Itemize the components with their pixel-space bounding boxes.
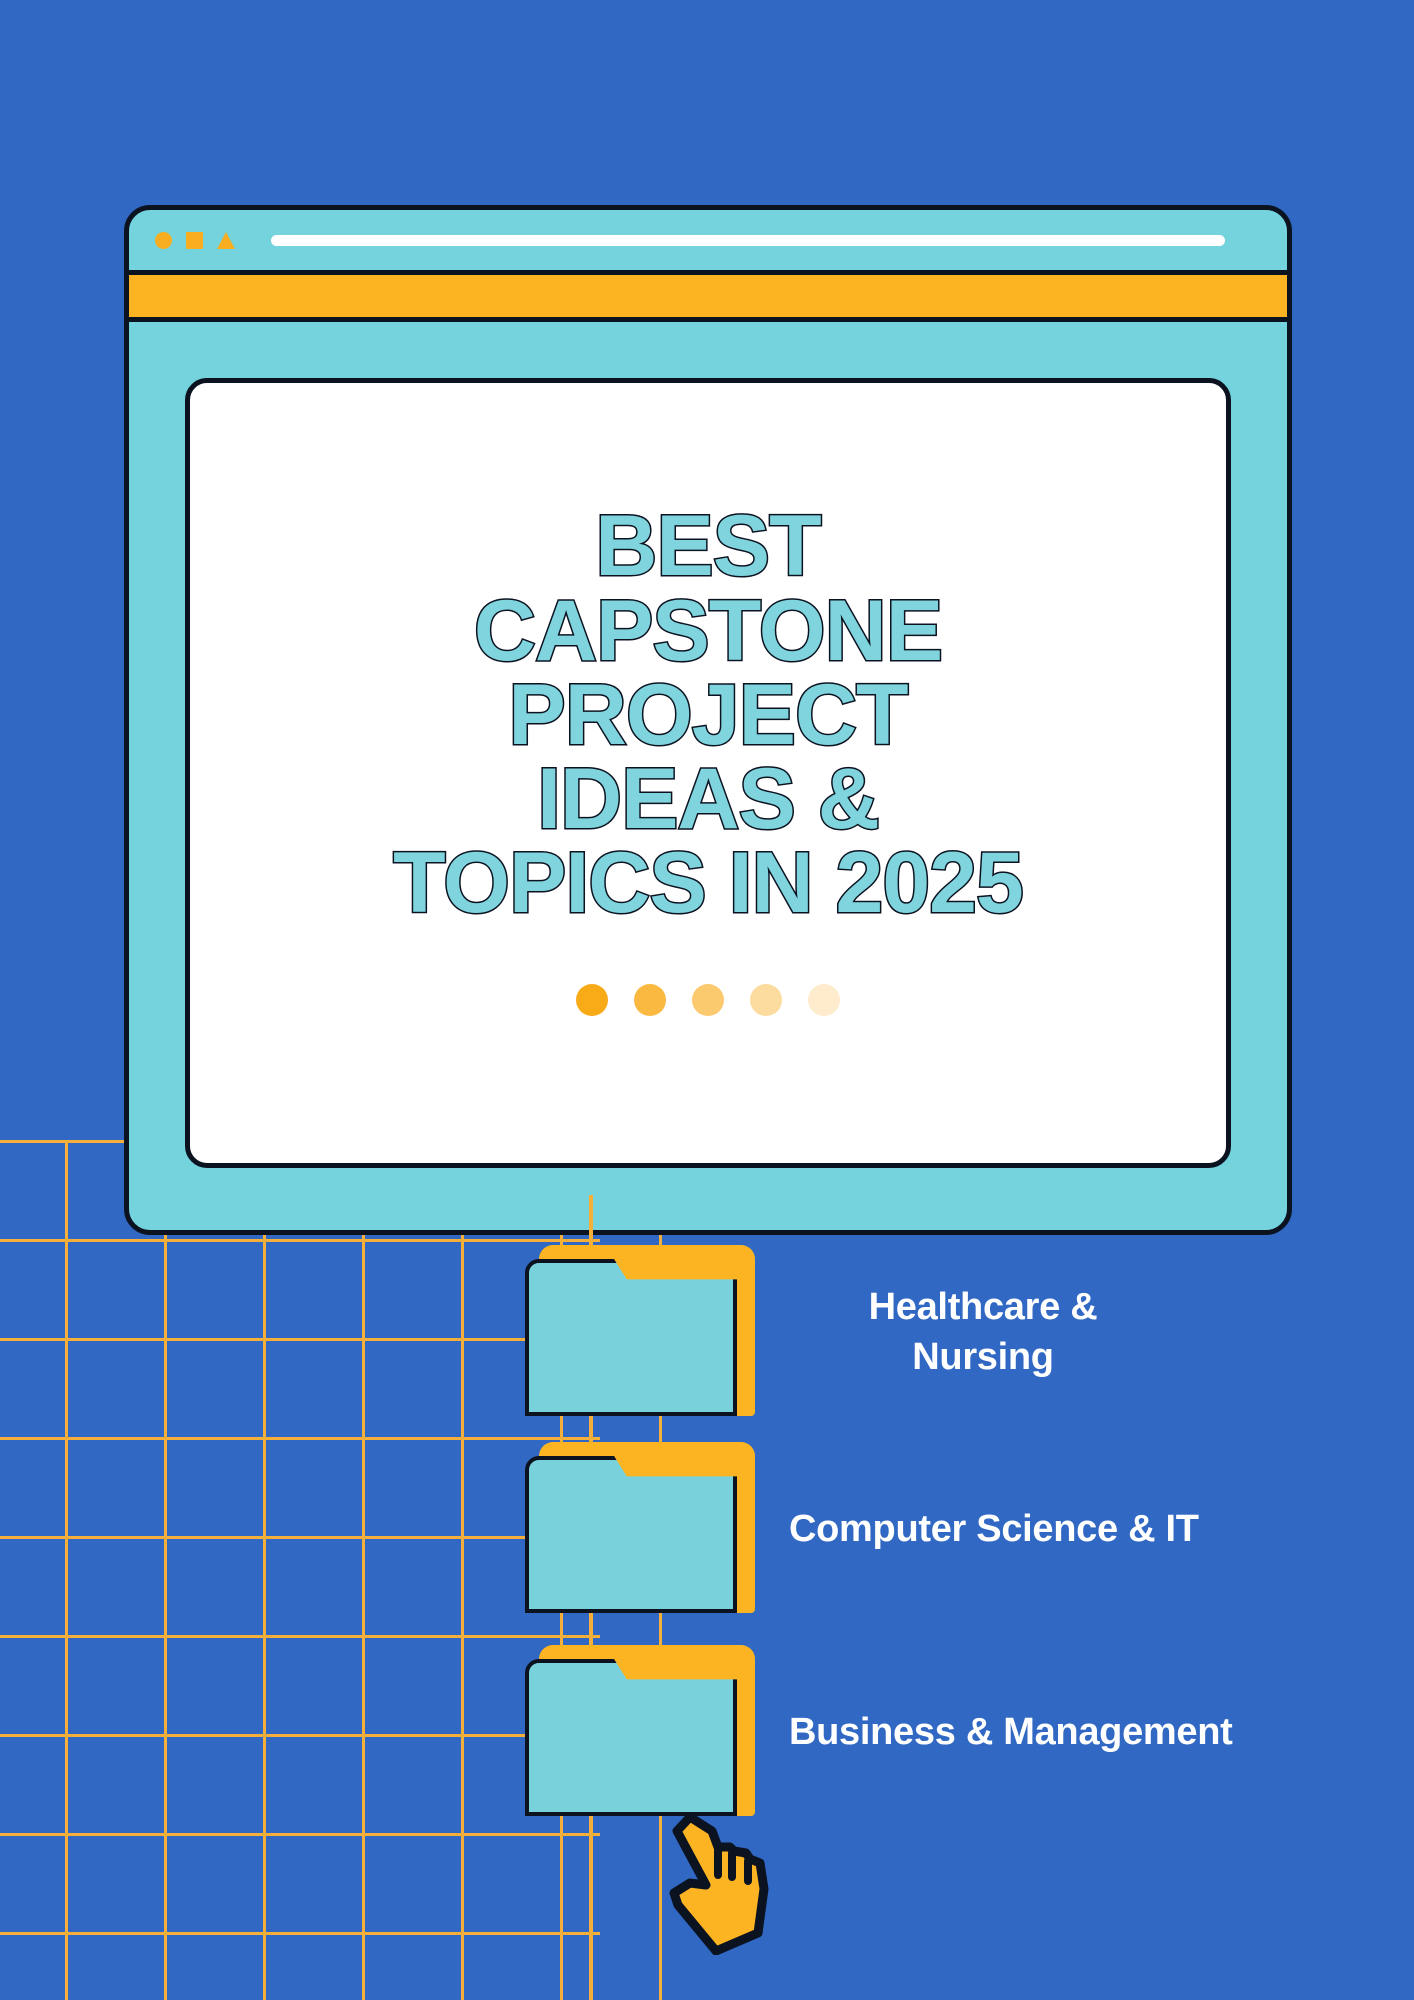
circle-control-icon[interactable]: [155, 232, 172, 249]
category-row: Healthcare & Nursing: [0, 1245, 1414, 1420]
browser-content-area: BEST CAPSTONE PROJECT IDEAS & TOPICS IN …: [185, 378, 1231, 1168]
folder-front-layer: [525, 1456, 737, 1613]
progress-dots: [576, 984, 840, 1016]
progress-dot[interactable]: [692, 984, 724, 1016]
folder-icon[interactable]: [525, 1442, 755, 1617]
category-label-computer-science: Computer Science & IT: [789, 1505, 1199, 1554]
category-row: Computer Science & IT: [0, 1442, 1414, 1617]
category-row: Business & Management: [0, 1645, 1414, 1820]
progress-dot[interactable]: [634, 984, 666, 1016]
browser-window: BEST CAPSTONE PROJECT IDEAS & TOPICS IN …: [124, 205, 1292, 1235]
progress-dot[interactable]: [750, 984, 782, 1016]
progress-dot[interactable]: [808, 984, 840, 1016]
progress-dot[interactable]: [576, 984, 608, 1016]
triangle-control-icon[interactable]: [217, 232, 235, 249]
poster-canvas: BEST CAPSTONE PROJECT IDEAS & TOPICS IN …: [0, 0, 1414, 2000]
folder-front-layer: [525, 1659, 737, 1816]
folder-front-layer: [525, 1259, 737, 1416]
headline-line-5: TOPICS IN 2025: [393, 841, 1023, 925]
headline-line-2: CAPSTONE: [393, 589, 1023, 673]
headline-line-3: PROJECT: [393, 673, 1023, 757]
folder-icon[interactable]: [525, 1245, 755, 1420]
browser-titlebar: [129, 210, 1287, 270]
url-bar-input[interactable]: [271, 235, 1225, 246]
page-title: BEST CAPSTONE PROJECT IDEAS & TOPICS IN …: [379, 504, 1037, 925]
square-control-icon[interactable]: [186, 232, 203, 249]
folder-icon[interactable]: [525, 1645, 755, 1820]
browser-toolbar: [129, 270, 1287, 322]
category-label-healthcare: Healthcare & Nursing: [813, 1283, 1153, 1382]
pointing-hand-cursor-icon: [660, 1805, 770, 1955]
category-label-business: Business & Management: [789, 1708, 1233, 1757]
headline-line-4: IDEAS &: [393, 757, 1023, 841]
headline-line-1: BEST: [393, 504, 1023, 588]
tree-connector-bottom: [589, 1815, 593, 2000]
